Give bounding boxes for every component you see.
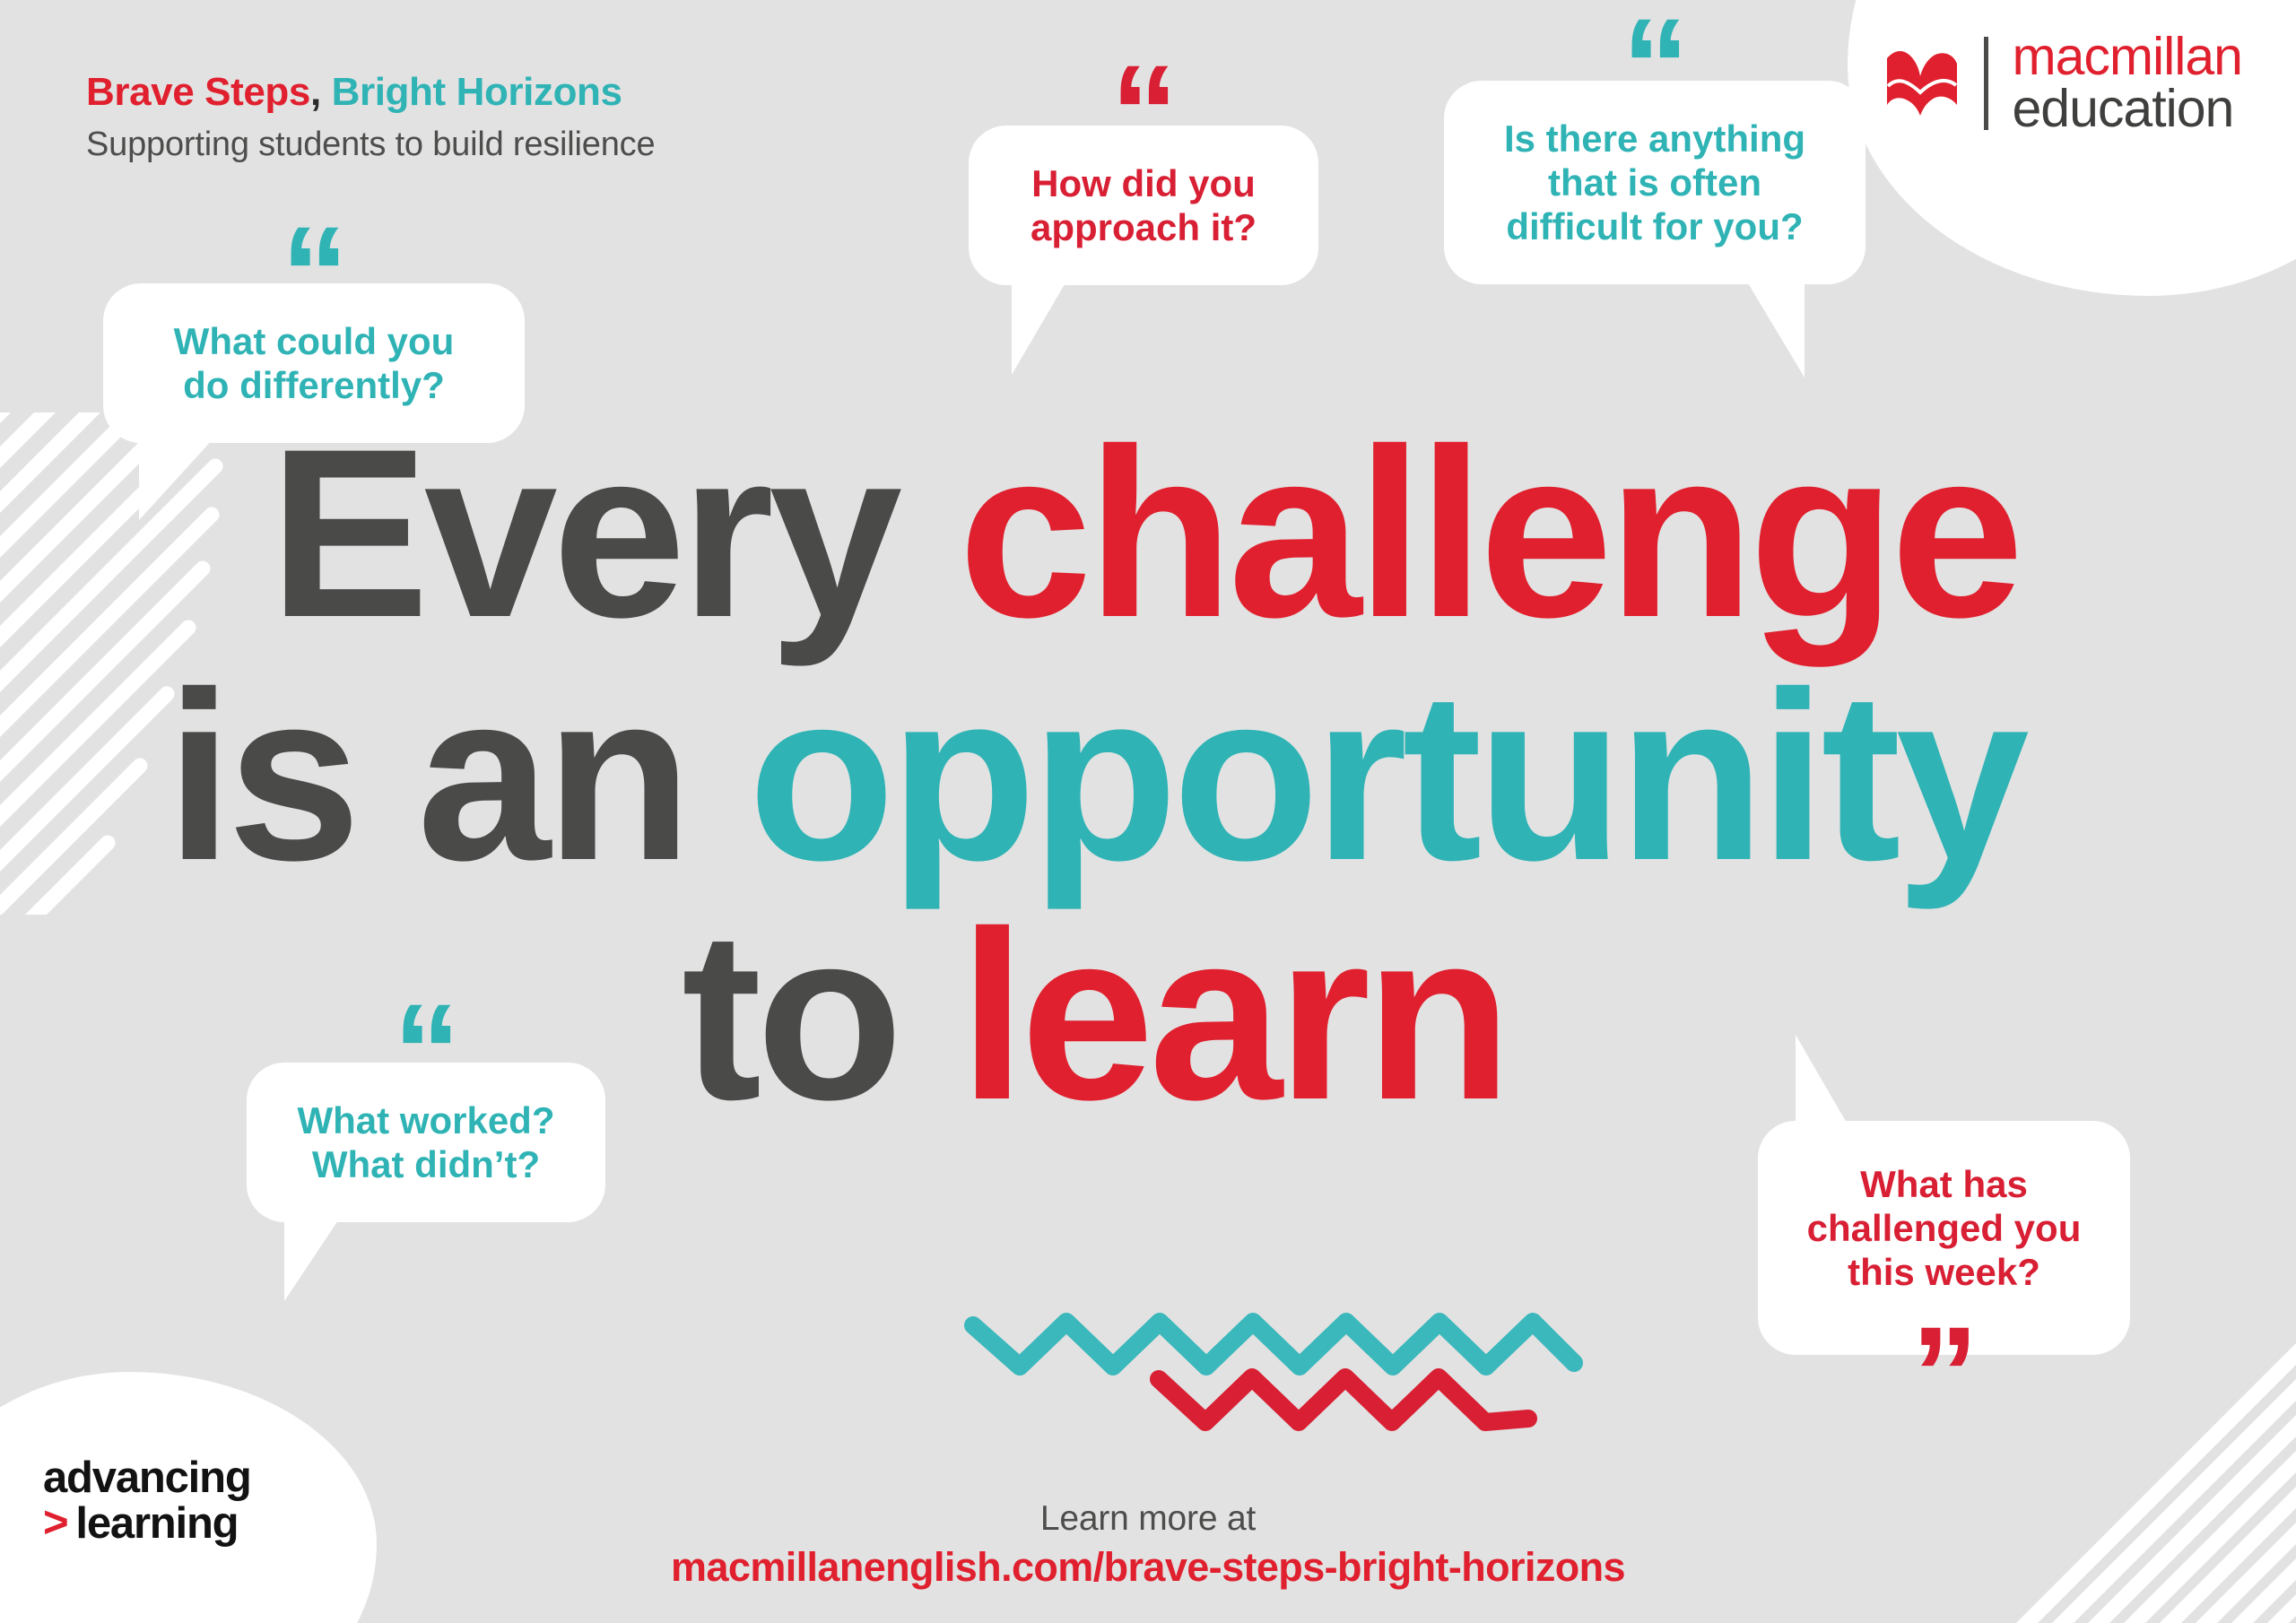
advancing-word: advancing [43,1455,251,1500]
learn-more-label: Learn more at [0,1499,2296,1539]
quote-open-icon: “ [1622,0,1688,133]
speech-bubble-what-has-challenged-you-this-week: What has challenged you this week? ” [1758,1121,2130,1355]
speech-bubble-what-could-you-do-differently: “ What could you do differently? [103,283,525,443]
speech-bubble-what-worked-what-didnt: “ What worked? What didn’t? [247,1063,605,1222]
bubble-tail [1796,1035,1848,1124]
campaign-title: Brave Steps, Bright Horizons [86,70,655,115]
header-block: Brave Steps, Bright Horizons Supporting … [86,70,655,164]
headline-word-isan: is an [166,641,748,910]
campaign-tagline: Supporting students to build resilience [86,126,655,164]
bubble-tail [1745,279,1805,378]
speech-bubble-is-there-anything-difficult: “ Is there anything that is often diffic… [1444,81,1865,284]
bubble-text: How did you approach it? [1010,161,1277,249]
poster-canvas: macmillan education advancing > learning… [0,0,2296,1623]
headline-word-to: to [682,881,959,1150]
macmillan-word: macmillan [2012,31,2242,83]
footer-block: Learn more at macmillanenglish.com/brave… [0,1499,2296,1591]
macmillan-book-icon [1883,46,1961,121]
macmillan-education-logo: macmillan education [1883,31,2242,135]
headline-word-learn: learn [959,881,1507,1150]
zigzag-red [1148,1363,1552,1448]
logo-divider [1984,37,1988,130]
campaign-url[interactable]: macmillanenglish.com/brave-steps-bright-… [0,1544,2296,1591]
headline-line-1: Every challenge [0,421,2296,645]
bubble-text: What worked? What didn’t? [288,1098,564,1186]
campaign-title-part1: Brave Steps [86,70,310,114]
bubble-body: “ What could you do differently? [103,283,525,443]
bubble-body: “ How did you approach it? [969,126,1318,285]
quote-open-icon: “ [1111,45,1177,179]
bubble-body: What has challenged you this week? ” [1758,1121,2130,1355]
headline-word-opportunity: opportunity [748,641,2024,910]
bubble-text: What has challenged you this week? [1794,1162,2094,1294]
campaign-title-part2: Bright Horizons [321,70,622,114]
headline-block: Every challenge is an opportunity to lea… [0,421,2296,1128]
bubble-tail [284,1215,342,1301]
bubble-body: “ Is there anything that is often diffic… [1444,81,1865,284]
campaign-title-comma: , [310,70,321,114]
bubble-text: Is there anything that is often difficul… [1485,117,1824,248]
speech-bubble-how-did-you-approach-it: “ How did you approach it? [969,126,1318,285]
bubble-text: What could you do differently? [144,319,483,407]
bubble-body: “ What worked? What didn’t? [247,1063,605,1222]
macmillan-wordmark: macmillan education [2012,31,2242,135]
headline-line-2: is an opportunity [0,664,2296,888]
bubble-tail [1012,280,1067,375]
headline-word-challenge: challenge [959,398,2019,667]
education-word: education [2012,83,2242,135]
quote-close-icon: ” [1911,1306,1977,1441]
bubble-tail [139,438,214,520]
